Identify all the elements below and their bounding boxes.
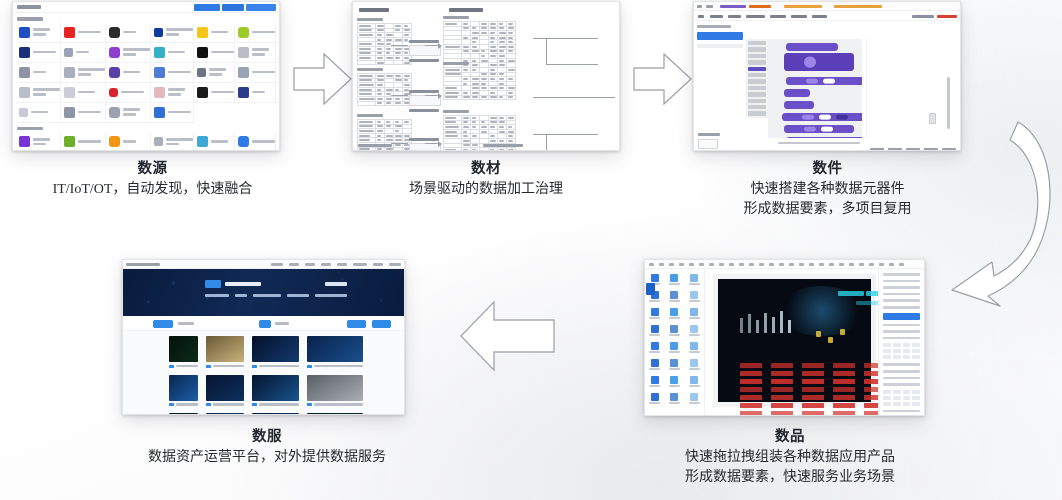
palette-component-icon	[670, 393, 678, 401]
bottom-left-box[interactable]	[698, 139, 718, 149]
asset-type-icon	[307, 403, 312, 406]
block-palette[interactable]	[746, 39, 768, 118]
toolbar-icon-20[interactable]	[839, 263, 844, 266]
source-table-2[interactable]	[357, 68, 412, 106]
connector-icon	[64, 67, 75, 78]
menu-item-4[interactable]	[770, 15, 786, 18]
connector-cell[interactable]	[16, 23, 61, 43]
toolbar-icon-4[interactable]	[679, 263, 684, 266]
palette-component-6[interactable]	[684, 288, 704, 305]
chrome-item-6[interactable]	[353, 263, 367, 266]
asset-card[interactable]	[206, 413, 244, 415]
block-slot-2[interactable]	[821, 127, 833, 132]
catalog-action-buttons[interactable]	[194, 4, 276, 11]
connector-label	[123, 71, 140, 74]
palette-component-11[interactable]	[665, 322, 685, 339]
connector-cell[interactable]	[151, 63, 194, 83]
catalog-section-bigdata	[13, 123, 279, 152]
asset-type-icon	[307, 365, 312, 368]
block-slot-1[interactable]	[804, 57, 816, 68]
back-icon[interactable]	[697, 5, 702, 8]
connector-cell[interactable]	[235, 23, 276, 43]
menu-icon[interactable]	[698, 15, 704, 18]
toolbar-icon-22[interactable]	[859, 263, 864, 266]
palette-component-22[interactable]	[645, 390, 665, 407]
designer-toolbar[interactable]	[645, 260, 924, 269]
connector-label-line	[252, 48, 269, 51]
property-cell[interactable]	[893, 396, 901, 400]
palette-component-13[interactable]	[645, 339, 665, 356]
transform-node-1[interactable]	[409, 40, 441, 64]
code-block-1[interactable]	[786, 43, 838, 51]
property-cell[interactable]	[903, 343, 911, 347]
palette-component-14[interactable]	[665, 339, 685, 356]
palette-component-label	[669, 283, 680, 285]
connector-cell[interactable]	[61, 83, 106, 103]
palette-component-7[interactable]	[645, 305, 665, 322]
toolbar-icon-7[interactable]	[709, 263, 714, 266]
canvas-table-cell	[833, 411, 855, 416]
connector-cell[interactable]	[276, 23, 280, 43]
toolbar-icon-13[interactable]	[769, 263, 774, 266]
source-table-1[interactable]	[357, 18, 412, 65]
table-caption	[443, 110, 469, 113]
editor-menu-bar[interactable]	[694, 11, 960, 21]
filter-toggle-all[interactable]	[153, 320, 173, 328]
toolbar-icon-26[interactable]	[899, 263, 904, 266]
palette-component-5[interactable]	[665, 288, 685, 305]
chrome-item-1[interactable]	[271, 263, 283, 266]
palette-component-10[interactable]	[645, 322, 665, 339]
asset-card[interactable]	[252, 413, 299, 415]
block-slot-3[interactable]	[836, 115, 848, 120]
editor-body[interactable]	[694, 21, 960, 151]
block-slot-1[interactable]	[804, 127, 816, 132]
toolbar-icon-11[interactable]	[749, 263, 754, 266]
palette-item-6[interactable]	[748, 73, 766, 77]
palette-item-1[interactable]	[748, 41, 766, 45]
palette-item-9[interactable]	[748, 92, 766, 96]
connector-cell[interactable]	[106, 43, 151, 63]
asset-card-meta	[252, 365, 299, 368]
property-cell[interactable]	[893, 349, 901, 353]
palette-component-23[interactable]	[665, 390, 685, 407]
asset-card-title	[259, 365, 299, 367]
toolbar-icon-9[interactable]	[729, 263, 734, 266]
connector-label-line	[168, 88, 185, 91]
property-cell[interactable]	[903, 396, 911, 400]
footer-action-2[interactable]	[888, 148, 902, 151]
palette-collapse-handle[interactable]	[646, 283, 655, 295]
chrome-item-3[interactable]	[305, 263, 315, 266]
caption-source-line-1: IT/IoT/OT，自动发现，快速融合	[0, 180, 305, 200]
palette-component-18[interactable]	[684, 356, 704, 373]
property-cell[interactable]	[903, 390, 911, 394]
palette-item-8[interactable]	[748, 86, 766, 90]
tab-link-2[interactable]	[784, 5, 822, 8]
palette-component-icon	[690, 308, 698, 316]
connector-cell[interactable]	[16, 83, 61, 103]
connector-icon	[279, 27, 280, 38]
asset-card[interactable]	[206, 375, 244, 407]
connector-grid-1[interactable]	[16, 23, 276, 123]
designer-body[interactable]	[645, 269, 924, 416]
asset-card-meta	[169, 403, 198, 406]
connector-icon	[64, 87, 75, 98]
code-block-3[interactable]	[786, 77, 862, 85]
screenshot-block-editor[interactable]	[693, 1, 961, 151]
connector-cell[interactable]	[16, 43, 61, 63]
connector-label	[31, 111, 48, 114]
block-slot-2[interactable]	[823, 79, 835, 84]
asset-card-title	[314, 403, 363, 405]
palette-component-20[interactable]	[665, 373, 685, 390]
footer-action-4[interactable]	[924, 148, 938, 151]
footer-action-3[interactable]	[906, 148, 920, 151]
palette-item-3[interactable]	[748, 54, 766, 58]
toolbar-icon-19[interactable]	[829, 263, 834, 266]
connector-cell[interactable]	[194, 23, 235, 43]
portal-nav-item-1[interactable]	[205, 294, 229, 297]
connector-cell[interactable]	[276, 43, 280, 63]
property-row	[883, 324, 920, 327]
menu-item-5[interactable]	[791, 15, 807, 18]
canvas-table-cell	[802, 387, 824, 392]
toolbar-icon-10[interactable]	[739, 263, 744, 266]
menu-item-1[interactable]	[710, 15, 723, 18]
property-cell[interactable]	[912, 355, 920, 359]
palette-component-24[interactable]	[684, 390, 704, 407]
connector-cell[interactable]	[235, 43, 276, 63]
tab-link-3[interactable]	[834, 5, 882, 8]
arrow-component-to-product	[948, 120, 1062, 310]
connector-icon	[109, 47, 120, 58]
editor-sidebar[interactable]	[697, 25, 743, 51]
palette-component-icon	[690, 376, 698, 384]
chrome-item-7[interactable]	[373, 263, 383, 266]
connector-label	[123, 108, 140, 115]
screenshot-data-lineage[interactable]	[352, 1, 620, 151]
connector-icon	[279, 136, 280, 147]
property-panel[interactable]	[878, 269, 924, 416]
connector-label-line	[252, 91, 265, 94]
palette-component-icon	[651, 325, 659, 333]
property-row	[883, 330, 920, 333]
asset-card[interactable]	[307, 375, 363, 407]
connector-label	[252, 140, 275, 143]
chrome-item-2[interactable]	[289, 263, 299, 266]
palette-item-10[interactable]	[748, 99, 766, 103]
connector-cell[interactable]	[61, 132, 106, 151]
menu-item-6[interactable]	[812, 15, 827, 18]
footer-action-1[interactable]	[870, 148, 884, 151]
toolbar-icon-17[interactable]	[809, 263, 814, 266]
palette-component-icon	[690, 359, 698, 367]
editor-footer-actions[interactable]	[870, 148, 956, 151]
transform-node-3[interactable]	[409, 138, 441, 151]
property-cell[interactable]	[893, 390, 901, 394]
toolbar-icon-14[interactable]	[779, 263, 784, 266]
catalog-button-3[interactable]	[246, 4, 276, 11]
palette-item-7[interactable]	[748, 79, 766, 83]
connector-cell[interactable]	[276, 132, 280, 151]
table-caption	[357, 114, 383, 117]
connector-label	[78, 140, 101, 143]
tab-link-1[interactable]	[749, 5, 771, 8]
portal-nav-item-4[interactable]	[287, 294, 309, 297]
palette-item-12[interactable]	[748, 111, 766, 115]
toolbar-icon-6[interactable]	[699, 263, 704, 266]
palette-component-3[interactable]	[684, 271, 704, 288]
palette-component-label	[669, 334, 680, 336]
portal-filter-toolbar[interactable]	[123, 316, 404, 331]
connector-cell[interactable]	[194, 83, 235, 103]
connector-cell[interactable]	[194, 63, 235, 83]
catalog-button-2[interactable]	[222, 4, 244, 11]
connector-cell[interactable]	[106, 132, 151, 151]
connector-grid-2[interactable]	[16, 132, 276, 151]
connector-label-line	[123, 140, 136, 143]
connector-cell[interactable]	[16, 103, 61, 123]
canvas-table-cell	[833, 371, 855, 376]
target-table-1[interactable]	[443, 16, 516, 68]
block-slot-2[interactable]	[819, 115, 831, 120]
transform-node-2[interactable]	[409, 90, 441, 114]
palette-component-19[interactable]	[645, 373, 665, 390]
property-cell[interactable]	[912, 343, 920, 347]
property-cell[interactable]	[883, 396, 891, 400]
asset-card-title	[314, 365, 363, 367]
property-cell[interactable]	[893, 343, 901, 347]
connector-icon	[19, 87, 30, 98]
connector-cell[interactable]	[16, 132, 61, 151]
sidebar-row[interactable]	[697, 44, 743, 48]
horizontal-scrollbar[interactable]	[778, 142, 860, 145]
connector-cell[interactable]	[106, 83, 151, 103]
arrow-material-to-component	[632, 48, 694, 110]
palette-component-15[interactable]	[684, 339, 704, 356]
forward-icon[interactable]	[706, 5, 713, 8]
chrome-avatar[interactable]	[389, 263, 401, 266]
connector-label-line	[33, 33, 46, 36]
toolbar-icon-16[interactable]	[799, 263, 804, 266]
connector-label	[252, 71, 275, 74]
branch-1-b	[546, 64, 598, 65]
portal-browser-chrome[interactable]	[123, 260, 404, 269]
palette-item-11[interactable]	[748, 105, 766, 109]
property-grid[interactable]	[883, 390, 920, 406]
connector-cell[interactable]	[16, 63, 61, 83]
palette-item-4[interactable]	[748, 60, 766, 64]
transform-caption	[409, 90, 439, 93]
connector-cell[interactable]	[61, 103, 106, 123]
connector-cell[interactable]	[194, 132, 235, 151]
table-caption	[357, 18, 383, 21]
screenshot-connector-catalog[interactable]	[12, 1, 280, 151]
property-cell[interactable]	[883, 355, 891, 359]
connector-cell[interactable]	[106, 103, 151, 123]
code-block-4[interactable]	[784, 89, 810, 97]
property-cell[interactable]	[883, 343, 891, 347]
asset-card[interactable]	[206, 336, 244, 368]
canvas-table-cell	[802, 371, 824, 376]
menu-item-2[interactable]	[728, 15, 741, 18]
palette-component-9[interactable]	[684, 305, 704, 322]
caption-component-line-2: 形成数据要素，多项目复用	[690, 200, 965, 220]
toolbar-icon-12[interactable]	[759, 263, 764, 266]
canvas-table-cell	[833, 387, 855, 392]
chrome-item-4[interactable]	[321, 263, 331, 266]
toolbar-icon-18[interactable]	[819, 263, 824, 266]
toolbar-icon-3[interactable]	[669, 263, 674, 266]
view-toggle-list[interactable]	[372, 320, 391, 328]
block-slot-1[interactable]	[802, 115, 814, 120]
connector-cell[interactable]	[61, 63, 106, 83]
code-block-5[interactable]	[784, 101, 814, 109]
chrome-item-5[interactable]	[337, 263, 347, 266]
portal-nav-item-3[interactable]	[253, 294, 281, 297]
block-canvas[interactable]	[768, 39, 862, 138]
connector-cell[interactable]	[151, 23, 194, 43]
palette-component-16[interactable]	[645, 356, 665, 373]
code-block-7[interactable]	[784, 125, 854, 133]
connector-label-line	[166, 28, 193, 31]
connector-cell[interactable]	[61, 23, 106, 43]
browser-tab-bar[interactable]	[694, 2, 960, 11]
asset-thumbnail	[169, 413, 198, 415]
screenshot-data-asset-portal[interactable]	[122, 259, 405, 415]
document-icon[interactable]	[929, 113, 936, 124]
connector-cell[interactable]	[106, 23, 151, 43]
caption-material-line-1: 场景驱动的数据加工治理	[345, 180, 627, 200]
connector-label-line	[123, 48, 150, 51]
asset-card[interactable]	[169, 375, 198, 407]
menu-right-save[interactable]	[937, 15, 957, 18]
connector-cell[interactable]	[276, 63, 280, 83]
connector-label-line	[123, 108, 140, 111]
toolbar-icon-8[interactable]	[719, 263, 724, 266]
portal-signin-link[interactable]	[325, 282, 347, 286]
connector-label-line	[252, 31, 275, 34]
asset-card-meta	[206, 365, 244, 368]
property-cell[interactable]	[903, 349, 911, 353]
property-cell[interactable]	[903, 402, 911, 406]
portal-nav-item-2[interactable]	[235, 294, 247, 297]
tab-label-active[interactable]	[720, 5, 746, 8]
property-grid[interactable]	[883, 343, 920, 359]
transform-preview	[409, 143, 441, 151]
connector-cell[interactable]	[151, 43, 194, 63]
connector-label-line	[209, 73, 222, 76]
transform-preview	[409, 95, 441, 106]
bottom-left-label	[698, 133, 720, 136]
connector-icon	[109, 136, 120, 147]
toolbar-icon-2[interactable]	[659, 263, 664, 266]
property-cell[interactable]	[883, 390, 891, 394]
connector-cell[interactable]	[151, 103, 194, 123]
code-block-8[interactable]	[786, 137, 862, 138]
portal-nav[interactable]	[205, 294, 347, 297]
toolbar-icon-21[interactable]	[849, 263, 854, 266]
property-cell[interactable]	[883, 402, 891, 406]
property-row[interactable]	[883, 313, 920, 320]
toolbar-icon-1[interactable]	[649, 263, 654, 266]
menu-item-3[interactable]	[746, 15, 765, 18]
screenshot-dashboard-designer[interactable]	[644, 259, 925, 416]
sidebar-primary-button[interactable]	[697, 32, 743, 40]
asset-thumbnail	[206, 336, 244, 362]
asset-card-grid[interactable]	[123, 331, 404, 415]
property-cell[interactable]	[903, 355, 911, 359]
palette-component-label	[649, 351, 660, 353]
filter-page-current[interactable]	[259, 320, 271, 328]
property-cell[interactable]	[912, 402, 920, 406]
dashboard-canvas[interactable]	[713, 274, 876, 407]
toolbar-icon-15[interactable]	[789, 263, 794, 266]
toolbar-icon-23[interactable]	[869, 263, 874, 266]
asset-card[interactable]	[307, 413, 363, 415]
connector-cell[interactable]	[235, 63, 276, 83]
portal-nav-item-5[interactable]	[315, 294, 347, 297]
asset-card[interactable]	[252, 375, 299, 407]
property-cell[interactable]	[883, 349, 891, 353]
property-cell[interactable]	[912, 396, 920, 400]
palette-component-12[interactable]	[684, 322, 704, 339]
canvas-table-cell	[802, 411, 824, 416]
connector-cell[interactable]	[151, 132, 194, 151]
connector-label	[33, 88, 60, 95]
property-row	[883, 293, 920, 296]
connector-cell[interactable]	[276, 83, 280, 103]
property-cell[interactable]	[912, 349, 920, 353]
menu-right-1[interactable]	[912, 15, 934, 18]
palette-item-5[interactable]	[748, 67, 766, 71]
connector-cell[interactable]	[106, 63, 151, 83]
view-toggle-grid[interactable]	[347, 320, 366, 328]
connector-cell[interactable]	[235, 83, 276, 103]
toolbar-icon-24[interactable]	[879, 263, 884, 266]
catalog-button-1[interactable]	[194, 4, 220, 11]
asset-card[interactable]	[252, 336, 299, 368]
connector-cell[interactable]	[194, 43, 235, 63]
property-cell[interactable]	[893, 355, 901, 359]
palette-component-2[interactable]	[665, 271, 685, 288]
palette-component-label	[669, 402, 680, 404]
property-cell[interactable]	[912, 390, 920, 394]
connector-cell[interactable]	[61, 43, 106, 63]
palette-component-icon	[670, 291, 678, 299]
asset-card[interactable]	[169, 336, 198, 368]
palette-component-21[interactable]	[684, 373, 704, 390]
palette-component-17[interactable]	[665, 356, 685, 373]
connector-label	[252, 91, 265, 94]
toolbar-icon-25[interactable]	[889, 263, 894, 266]
connector-line-in-3	[391, 143, 408, 144]
palette-component-8[interactable]	[665, 305, 685, 322]
target-table-2[interactable]	[443, 62, 516, 100]
code-block-6[interactable]	[782, 113, 862, 121]
code-block-2[interactable]	[784, 53, 854, 71]
toolbar-icon-5[interactable]	[689, 263, 694, 266]
block-slot-1[interactable]	[806, 79, 818, 84]
connector-cell[interactable]	[235, 132, 276, 151]
palette-item-2[interactable]	[748, 47, 766, 51]
property-cell[interactable]	[893, 402, 901, 406]
connector-cell[interactable]	[151, 83, 194, 103]
asset-card[interactable]	[307, 336, 363, 368]
asset-thumbnail	[169, 375, 198, 401]
asset-card[interactable]	[169, 413, 198, 415]
